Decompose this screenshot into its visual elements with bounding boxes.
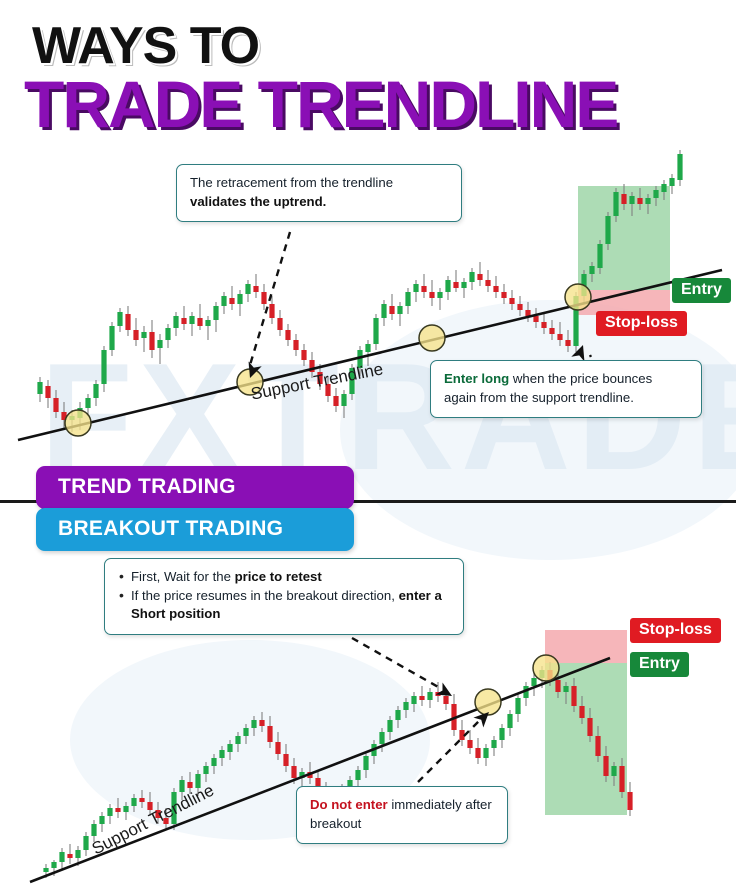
candle bbox=[579, 706, 584, 718]
leader-line bbox=[250, 232, 290, 365]
candle bbox=[293, 340, 298, 350]
candle bbox=[605, 216, 610, 244]
candle bbox=[43, 868, 48, 872]
candle bbox=[603, 756, 608, 776]
trendline-touch-marker bbox=[419, 325, 445, 351]
candle bbox=[181, 318, 186, 324]
stop-loss-tag-bottom: Stop-loss bbox=[630, 618, 721, 643]
candle bbox=[227, 744, 232, 752]
candle bbox=[587, 718, 592, 736]
candle bbox=[275, 742, 280, 754]
candle bbox=[619, 766, 624, 792]
candle bbox=[403, 702, 408, 710]
candle bbox=[277, 318, 282, 330]
candle bbox=[53, 398, 58, 412]
candle bbox=[363, 756, 368, 770]
candle bbox=[507, 714, 512, 728]
candle bbox=[83, 836, 88, 850]
candle bbox=[59, 852, 64, 862]
callout-do-not-enter-lead: Do not enter bbox=[310, 797, 388, 812]
candle bbox=[571, 686, 576, 706]
candle bbox=[123, 806, 128, 812]
candle bbox=[245, 284, 250, 294]
candle bbox=[141, 332, 146, 338]
callout-retracement-bold: validates the uptrend. bbox=[190, 194, 326, 209]
candle bbox=[563, 686, 568, 692]
candle bbox=[491, 740, 496, 748]
candle bbox=[99, 816, 104, 824]
candle bbox=[677, 154, 682, 180]
candle bbox=[395, 710, 400, 720]
candle bbox=[45, 386, 50, 398]
section-banner-trend-trading-label: TREND TRADING bbox=[58, 475, 236, 498]
callout-enter-long: Enter long when the price bounces again … bbox=[430, 360, 702, 418]
loss-zone bbox=[545, 630, 627, 663]
candle bbox=[187, 782, 192, 788]
candle bbox=[203, 766, 208, 774]
candle bbox=[493, 286, 498, 292]
candle bbox=[213, 306, 218, 320]
candle bbox=[509, 298, 514, 304]
candle bbox=[389, 306, 394, 314]
candle bbox=[501, 292, 506, 298]
callout-enter-long-lead: Enter long bbox=[444, 371, 509, 386]
candle bbox=[211, 758, 216, 766]
candle bbox=[475, 748, 480, 758]
candle bbox=[253, 286, 258, 292]
chart-breakout-trading bbox=[0, 620, 736, 896]
candle bbox=[85, 398, 90, 408]
callout-breakout-steps-list: First, Wait for the price to retest If t… bbox=[118, 568, 450, 624]
candle bbox=[205, 320, 210, 326]
candle bbox=[661, 184, 666, 192]
page-title-line2: TRADE TRENDLINE bbox=[24, 66, 617, 142]
candle bbox=[387, 720, 392, 732]
candle bbox=[611, 766, 616, 776]
section-banner-breakout-trading-label: BREAKOUT TRADING bbox=[58, 517, 283, 540]
candle bbox=[283, 754, 288, 766]
candle bbox=[427, 692, 432, 700]
bullet2-plain: If the price resumes in the breakout dir… bbox=[131, 588, 399, 603]
bullet1-plain: First, Wait for the bbox=[131, 569, 235, 584]
candle bbox=[541, 322, 546, 328]
candle bbox=[109, 326, 114, 350]
candle bbox=[197, 318, 202, 326]
callout-do-not-enter: Do not enter immediately after breakout bbox=[296, 786, 508, 844]
candle bbox=[291, 766, 296, 778]
candle bbox=[595, 736, 600, 756]
candle bbox=[365, 344, 370, 352]
candle bbox=[653, 190, 658, 198]
section-banner-trend-trading[interactable]: TREND TRADING bbox=[36, 466, 354, 509]
candle bbox=[235, 736, 240, 744]
entry-tag-top: Entry bbox=[672, 278, 731, 303]
candle bbox=[645, 198, 650, 204]
candle bbox=[341, 394, 346, 406]
candle bbox=[437, 292, 442, 298]
candle bbox=[549, 328, 554, 334]
candle bbox=[165, 328, 170, 340]
candle bbox=[629, 196, 634, 204]
trendline-touch-marker bbox=[565, 284, 591, 310]
candle bbox=[483, 748, 488, 758]
candle bbox=[533, 316, 538, 322]
candle bbox=[267, 726, 272, 742]
candle bbox=[107, 808, 112, 816]
candle bbox=[589, 266, 594, 274]
bullet1-bold: price to retest bbox=[235, 569, 322, 584]
leader-line bbox=[352, 638, 440, 688]
callout-retracement: The retracement from the trendline valid… bbox=[176, 164, 462, 222]
callout-breakout-steps: First, Wait for the price to retest If t… bbox=[104, 558, 464, 635]
candle bbox=[301, 350, 306, 360]
candle bbox=[373, 318, 378, 344]
candle bbox=[421, 286, 426, 292]
candle bbox=[229, 298, 234, 304]
list-item: If the price resumes in the breakout dir… bbox=[118, 587, 450, 624]
candle bbox=[419, 696, 424, 700]
candle bbox=[669, 178, 674, 186]
candle bbox=[261, 292, 266, 304]
entry-tag-bottom: Entry bbox=[630, 652, 689, 677]
candle bbox=[243, 728, 248, 736]
infographic-page: FXTRADER WAYS TO TRADE TRENDLINE Support… bbox=[0, 0, 736, 896]
candle bbox=[469, 272, 474, 282]
candle bbox=[51, 862, 56, 868]
candle bbox=[91, 824, 96, 836]
candle bbox=[139, 798, 144, 802]
trendline-touch-marker bbox=[533, 655, 559, 681]
candle bbox=[259, 720, 264, 726]
candle bbox=[397, 306, 402, 314]
trendline-touch-marker bbox=[475, 689, 501, 715]
candle bbox=[627, 792, 632, 810]
candle bbox=[269, 304, 274, 318]
candle bbox=[133, 330, 138, 340]
candle bbox=[413, 284, 418, 292]
candle bbox=[517, 304, 522, 310]
candle bbox=[251, 720, 256, 728]
candle bbox=[37, 382, 42, 394]
candle bbox=[189, 316, 194, 324]
candle bbox=[477, 274, 482, 280]
candle bbox=[461, 282, 466, 288]
candle bbox=[555, 680, 560, 692]
candle bbox=[637, 198, 642, 204]
candle bbox=[443, 696, 448, 704]
list-item: First, Wait for the price to retest bbox=[118, 568, 450, 587]
candle bbox=[131, 798, 136, 806]
candle bbox=[405, 292, 410, 306]
candle bbox=[355, 770, 360, 780]
candle bbox=[219, 750, 224, 758]
candle bbox=[101, 350, 106, 384]
candle bbox=[613, 192, 618, 216]
candle bbox=[237, 294, 242, 304]
candle bbox=[597, 244, 602, 268]
candle bbox=[565, 340, 570, 346]
candle bbox=[499, 728, 504, 740]
candle bbox=[221, 296, 226, 306]
candle bbox=[117, 312, 122, 326]
candle bbox=[531, 678, 536, 686]
candle bbox=[285, 330, 290, 340]
candle bbox=[557, 334, 562, 340]
candle bbox=[485, 280, 490, 286]
candle bbox=[429, 292, 434, 298]
candle bbox=[333, 396, 338, 406]
candle bbox=[179, 780, 184, 792]
candle bbox=[157, 340, 162, 348]
candle bbox=[75, 850, 80, 858]
candle bbox=[149, 332, 154, 350]
candle bbox=[115, 808, 120, 812]
candle bbox=[379, 732, 384, 744]
trendline-touch-marker bbox=[65, 410, 91, 436]
candle bbox=[515, 698, 520, 714]
candle bbox=[173, 316, 178, 328]
candle bbox=[621, 194, 626, 204]
callout-retracement-text: The retracement from the trendline bbox=[190, 175, 393, 190]
stop-loss-tag-top: Stop-loss bbox=[596, 311, 687, 336]
candle bbox=[67, 854, 72, 858]
section-banner-breakout-trading[interactable]: BREAKOUT TRADING bbox=[36, 508, 354, 551]
candle bbox=[93, 384, 98, 398]
candle bbox=[411, 696, 416, 704]
candle bbox=[381, 304, 386, 318]
candle bbox=[453, 282, 458, 288]
candle bbox=[467, 740, 472, 748]
candle bbox=[445, 280, 450, 292]
candle bbox=[125, 314, 130, 330]
